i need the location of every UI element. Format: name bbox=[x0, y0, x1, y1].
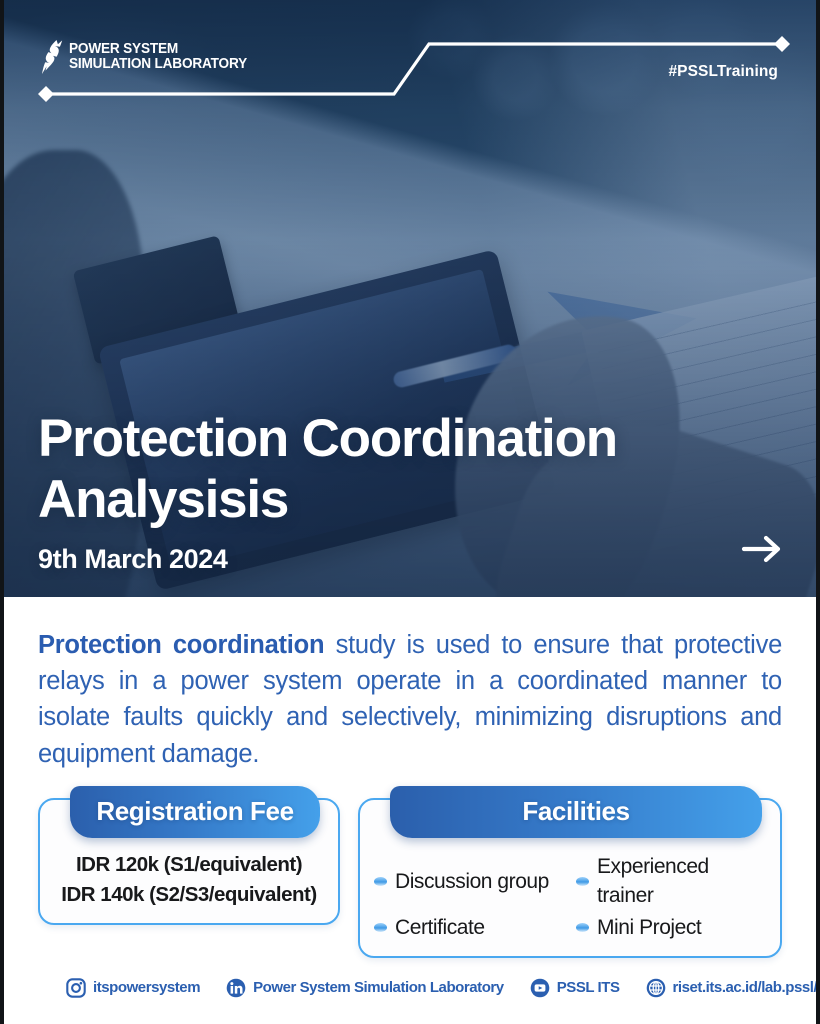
logo-text: POWER SYSTEM SIMULATION LABORATORY bbox=[69, 42, 247, 72]
bullet-dot-icon bbox=[374, 877, 387, 886]
poster-header: POWER SYSTEM SIMULATION LABORATORY #PSSL… bbox=[4, 0, 816, 110]
list-item: Mini Project bbox=[576, 913, 768, 942]
facility-label: Mini Project bbox=[597, 913, 701, 942]
social-label: Power System Simulation Laboratory bbox=[253, 979, 504, 996]
fee-line: IDR 140k (S2/S3/equivalent) bbox=[50, 880, 328, 910]
hero-text-block: Protection Coordination Analysisis 9th M… bbox=[38, 409, 708, 575]
registration-fee-card: Registration Fee IDR 120k (S1/equivalent… bbox=[38, 798, 340, 925]
social-label: itspowersystem bbox=[93, 979, 200, 996]
linkedin-icon bbox=[226, 978, 246, 998]
social-website[interactable]: riset.its.ac.id/lab.pssl/ bbox=[646, 978, 818, 998]
logo-line-2: SIMULATION LABORATORY bbox=[69, 57, 247, 72]
bullet-dot-icon bbox=[576, 923, 589, 932]
description-paragraph: Protection coordination study is used to… bbox=[38, 627, 782, 772]
social-label: riset.its.ac.id/lab.pssl/ bbox=[673, 979, 818, 996]
logo-line-1: POWER SYSTEM bbox=[69, 42, 247, 57]
instagram-icon bbox=[66, 978, 86, 998]
list-item: Experienced trainer bbox=[576, 852, 768, 911]
facility-label: Discussion group bbox=[395, 867, 549, 896]
registration-fee-header: Registration Fee bbox=[70, 786, 320, 838]
pssl-logo: POWER SYSTEM SIMULATION LABORATORY bbox=[42, 40, 258, 74]
fee-line: IDR 120k (S1/equivalent) bbox=[50, 850, 328, 880]
info-cards: Registration Fee IDR 120k (S1/equivalent… bbox=[38, 798, 782, 958]
arrow-right-icon[interactable] bbox=[740, 529, 786, 569]
hashtag-label: #PSSLTraining bbox=[668, 63, 778, 81]
social-linkedin[interactable]: Power System Simulation Laboratory bbox=[226, 978, 504, 998]
facilities-title: Facilities bbox=[522, 796, 629, 827]
youtube-icon bbox=[530, 978, 550, 998]
hero-banner: POWER SYSTEM SIMULATION LABORATORY #PSSL… bbox=[4, 0, 816, 597]
list-item: Certificate bbox=[374, 913, 566, 942]
list-item: Discussion group bbox=[374, 852, 566, 911]
social-footer: itspowersystem Power System Simulation L… bbox=[38, 958, 782, 998]
facilities-list: Discussion group Experienced trainer Cer… bbox=[360, 844, 780, 942]
social-youtube[interactable]: PSSL ITS bbox=[530, 978, 620, 998]
registration-fee-title: Registration Fee bbox=[96, 796, 293, 827]
lightning-bolt-icon bbox=[42, 40, 64, 74]
registration-fee-list: IDR 120k (S1/equivalent) IDR 140k (S2/S3… bbox=[40, 844, 338, 909]
facility-label: Certificate bbox=[395, 913, 485, 942]
description-bold-lead: Protection coordination bbox=[38, 631, 324, 659]
bullet-dot-icon bbox=[576, 877, 589, 886]
facility-label: Experienced trainer bbox=[597, 852, 768, 911]
social-label: PSSL ITS bbox=[557, 979, 620, 996]
poster-body: Protection coordination study is used to… bbox=[4, 627, 816, 998]
event-date: 9th March 2024 bbox=[38, 544, 708, 575]
page-title: Protection Coordination Analysisis bbox=[38, 409, 708, 530]
event-poster: POWER SYSTEM SIMULATION LABORATORY #PSSL… bbox=[0, 0, 820, 1024]
facilities-header: Facilities bbox=[390, 786, 762, 838]
globe-icon bbox=[646, 978, 666, 998]
facilities-card: Facilities Discussion group Experienced … bbox=[358, 798, 782, 958]
social-instagram[interactable]: itspowersystem bbox=[66, 978, 200, 998]
bullet-dot-icon bbox=[374, 923, 387, 932]
